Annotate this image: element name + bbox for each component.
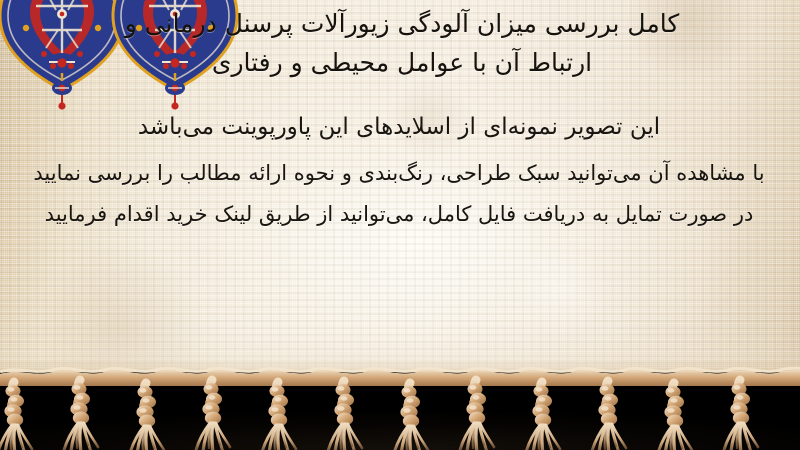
slide-title: کامل بررسی میزان آلودگی زیورآلات پرسنل د… [22, 4, 782, 82]
tassel [658, 383, 692, 450]
tassel [0, 382, 32, 450]
tassel-fringe [0, 352, 800, 450]
title-line-1: کامل بررسی میزان آلودگی زیورآلات پرسنل د… [22, 4, 782, 43]
tassel [526, 382, 560, 450]
presentation-slide: کامل بررسی میزان آلودگی زیورآلات پرسنل د… [0, 0, 800, 450]
tassel [724, 380, 758, 450]
tassel-row [0, 380, 758, 450]
title-line-2: ارتباط آن با عوامل محیطی و رفتاری [22, 43, 782, 82]
fringe-svg [0, 352, 800, 450]
tassel [262, 382, 296, 450]
body-line-2: با مشاهده آن می‌توانید سبک طراحی، رنگ‌بن… [8, 157, 790, 189]
tassel [592, 381, 626, 450]
body-line-3: در صورت تمایل به دریافت فایل کامل، می‌تو… [8, 198, 790, 230]
tassel [64, 380, 98, 450]
slide-body: این تصویر نمونه‌ای از اسلایدهای این پاور… [8, 110, 790, 230]
tassel [196, 380, 230, 450]
tassel [130, 383, 164, 450]
body-line-1: این تصویر نمونه‌ای از اسلایدهای این پاور… [8, 110, 790, 144]
tassel [328, 381, 362, 450]
tassel [394, 383, 428, 450]
tassel [460, 380, 494, 450]
